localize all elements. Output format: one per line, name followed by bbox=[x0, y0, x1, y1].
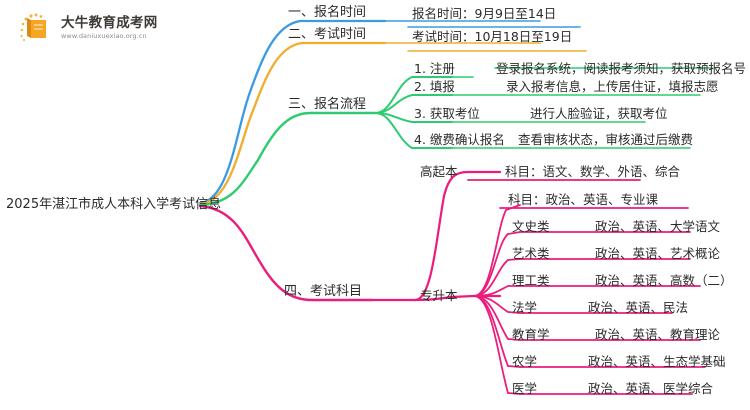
branch-value-exam-time: 考试时间：10月18日至19日 bbox=[412, 28, 572, 45]
subject-list-2: 政治、英语、艺术概论 bbox=[595, 245, 720, 262]
branch-label-signup-time[interactable]: 一、报名时间 bbox=[288, 4, 366, 21]
subject-list-3: 政治、英语、高数（二） bbox=[595, 272, 733, 289]
branch-label-exam-time[interactable]: 二、考试时间 bbox=[288, 26, 366, 43]
root-node[interactable]: 2025年湛江市成人本科入学考试信息 bbox=[6, 193, 221, 212]
branch-label-signup-process[interactable]: 三、报名流程 bbox=[288, 96, 366, 113]
subject-category-6[interactable]: 农学 bbox=[512, 353, 537, 370]
site-logo: 大牛教育成考网 www.daniuxuexiao.org.cn bbox=[18, 12, 158, 44]
process-step-label-4[interactable]: 4. 缴费确认报名 bbox=[414, 131, 505, 148]
subject-list-1: 政治、英语、大学语文 bbox=[595, 218, 720, 235]
logo-title: 大牛教育成考网 bbox=[61, 17, 158, 31]
subject-list-4: 政治、英语、民法 bbox=[588, 299, 688, 316]
book-icon bbox=[18, 12, 54, 44]
subject-category-2[interactable]: 艺术类 bbox=[512, 245, 550, 262]
mindmap-canvas: 大牛教育成考网 www.daniuxuexiao.org.cn 2025年湛江市… bbox=[0, 0, 750, 410]
subject-list-7: 政治、英语、医学综合 bbox=[588, 380, 713, 397]
group-label-gaoqiben[interactable]: 高起本 bbox=[420, 163, 458, 180]
process-step-label-1[interactable]: 1. 注册 bbox=[414, 60, 455, 77]
subject-list-6: 政治、英语、生态学基础 bbox=[588, 353, 726, 370]
group-subjects-zhuanshengben: 科目：政治、英语、专业课 bbox=[508, 191, 658, 208]
subject-category-4[interactable]: 法学 bbox=[512, 299, 537, 316]
subject-category-1[interactable]: 文史类 bbox=[512, 218, 550, 235]
process-step-label-3[interactable]: 3. 获取考位 bbox=[414, 105, 480, 122]
subject-category-7[interactable]: 医学 bbox=[512, 380, 537, 397]
group-subjects-gaoqiben: 科目：语文、数学、外语、综合 bbox=[505, 163, 680, 180]
process-step-detail-4: 查看审核状态，审核通过后缴费 bbox=[518, 131, 693, 148]
logo-url: www.daniuxuexiao.org.cn bbox=[61, 33, 158, 40]
subject-category-5[interactable]: 教育学 bbox=[512, 326, 550, 343]
process-step-detail-1: 登录报名系统，阅读报考须知，获取预报名号 bbox=[496, 60, 746, 77]
branch-label-exam-subjects[interactable]: 四、考试科目 bbox=[284, 283, 362, 300]
process-step-detail-2: 录入报考信息，上传居住证，填报志愿 bbox=[506, 78, 719, 95]
branch-value-signup-time: 报名时间：9月9日至14日 bbox=[412, 5, 556, 22]
group-label-zhuanshengben[interactable]: 专升本 bbox=[420, 287, 458, 304]
subject-list-5: 政治、英语、教育理论 bbox=[595, 326, 720, 343]
process-step-label-2[interactable]: 2. 填报 bbox=[414, 78, 455, 95]
process-step-detail-3: 进行人脸验证，获取考位 bbox=[530, 105, 668, 122]
subject-category-3[interactable]: 理工类 bbox=[512, 272, 550, 289]
